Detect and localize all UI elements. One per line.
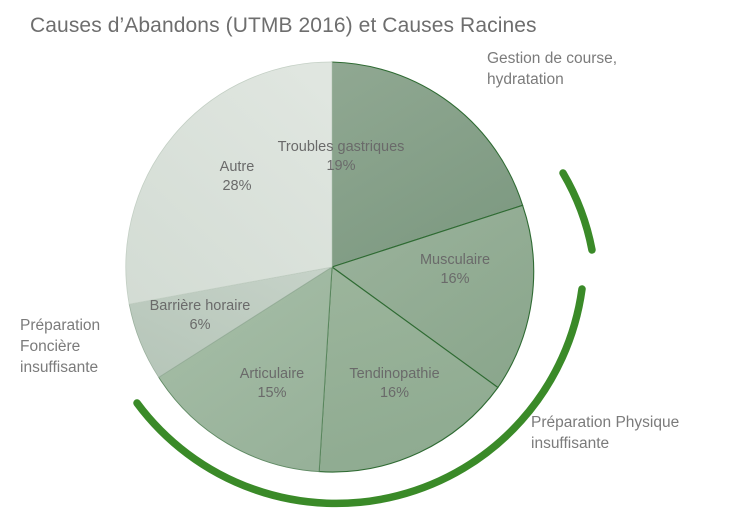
annotation-gestion-de-course: Gestion de course, hydratation	[487, 49, 687, 91]
bracket-arc-right	[563, 173, 592, 250]
annotation-fonciere-line-3: insuffisante	[20, 358, 160, 379]
annotation-gestion-line-1: Gestion de course,	[487, 49, 687, 70]
annotation-preparation-fonciere: Préparation Foncière insuffisante	[20, 316, 160, 379]
annotation-fonciere-line-1: Préparation	[20, 316, 160, 337]
annotation-physique-line-1: Préparation Physique	[531, 413, 730, 434]
annotation-gestion-line-2: hydratation	[487, 70, 687, 91]
annotation-preparation-physique: Préparation Physique insuffisante	[531, 413, 730, 455]
annotation-physique-line-2: insuffisante	[531, 434, 730, 455]
pie-slice-autre	[126, 62, 332, 304]
annotation-fonciere-line-2: Foncière	[20, 337, 160, 358]
chart-canvas: Causes d’Abandons (UTMB 2016) et Causes …	[0, 0, 730, 515]
